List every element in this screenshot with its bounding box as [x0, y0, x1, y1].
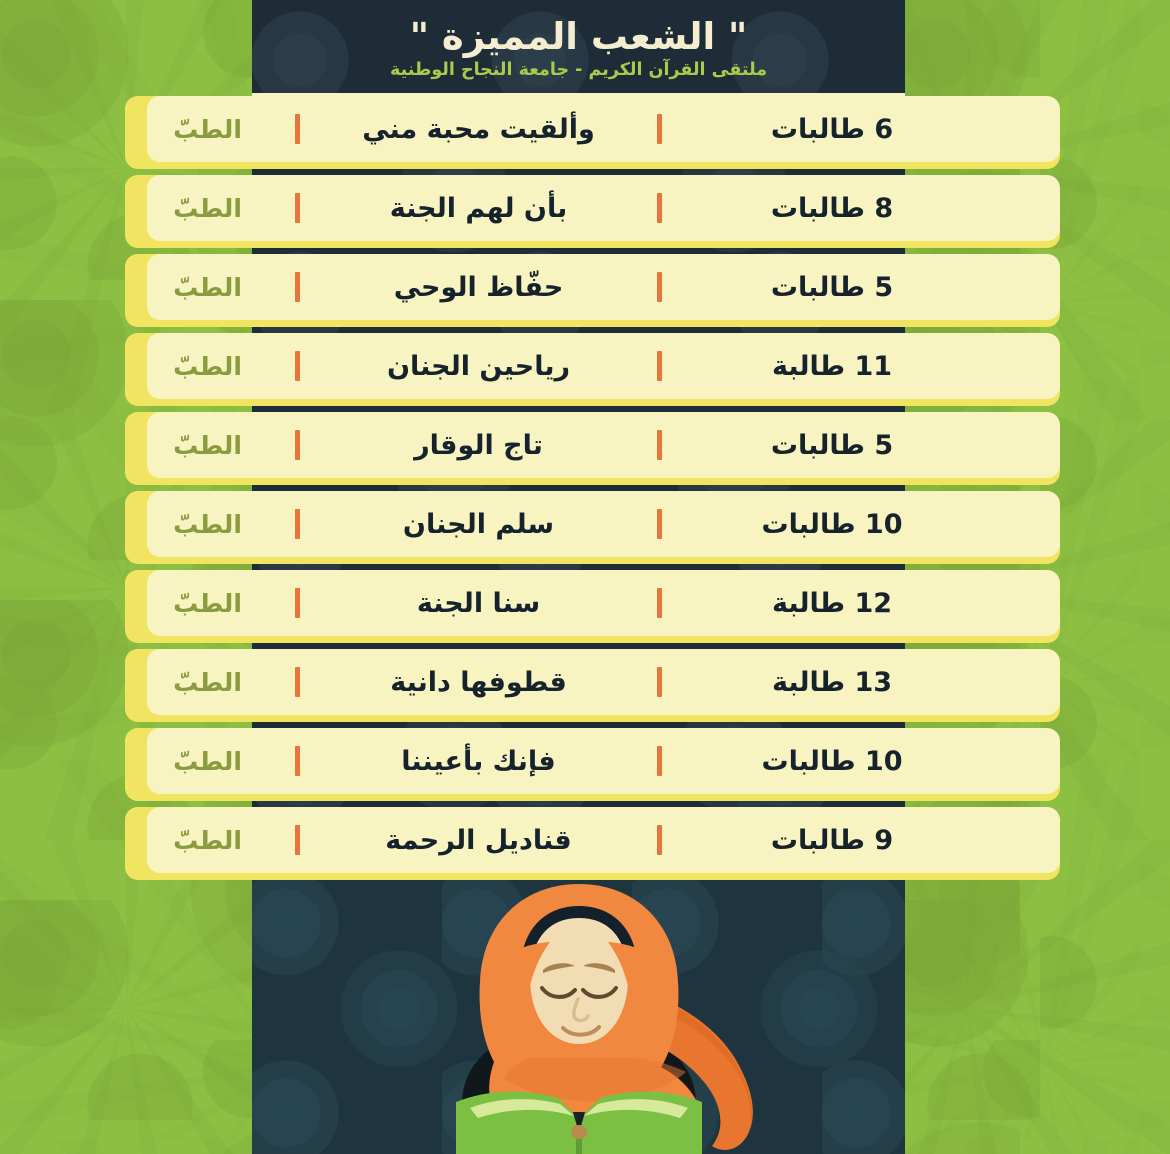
row-pill[interactable]: الطبّ حفّاظ الوحي 5 طالبات — [125, 254, 1060, 320]
table-row[interactable]: الطبّ فإنك بأعيننا 10 طالبات — [0, 728, 1170, 794]
cell-group-name: قناديل الرحمة — [300, 807, 657, 873]
cell-faculty: الطبّ — [125, 254, 290, 320]
cell-faculty: الطبّ — [125, 807, 290, 873]
table-row[interactable]: الطبّ بأن لهم الجنة 8 طالبات — [0, 175, 1170, 241]
cell-faculty: الطبّ — [125, 491, 290, 557]
cell-faculty: الطبّ — [125, 649, 290, 715]
cell-faculty: الطبّ — [125, 175, 290, 241]
row-pill[interactable]: الطبّ تاج الوقار 5 طالبات — [125, 412, 1060, 478]
row-pill[interactable]: الطبّ سلم الجنان 10 طالبات — [125, 491, 1060, 557]
table-row[interactable]: الطبّ قناديل الرحمة 9 طالبات — [0, 807, 1170, 873]
illustration-panel — [252, 866, 905, 1154]
cell-student-count: 9 طالبات — [662, 807, 1002, 873]
woman-reading-icon — [344, 866, 814, 1154]
cell-student-count: 10 طالبات — [662, 491, 1002, 557]
row-pill[interactable]: الطبّ رياحين الجنان 11 طالبة — [125, 333, 1060, 399]
cell-student-count: 5 طالبات — [662, 412, 1002, 478]
cell-faculty: الطبّ — [125, 333, 290, 399]
cell-faculty: الطبّ — [125, 412, 290, 478]
cell-group-name: حفّاظ الوحي — [300, 254, 657, 320]
table-row[interactable]: الطبّ سلم الجنان 10 طالبات — [0, 491, 1170, 557]
cell-student-count: 8 طالبات — [662, 175, 1002, 241]
page-subtitle: ملتقى القرآن الكريم - جامعة النجاح الوطن… — [390, 60, 767, 80]
cell-group-name: رياحين الجنان — [300, 333, 657, 399]
cell-group-name: سنا الجنة — [300, 570, 657, 636]
cell-group-name: بأن لهم الجنة — [300, 175, 657, 241]
cell-student-count: 11 طالبة — [662, 333, 1002, 399]
cell-group-name: تاج الوقار — [300, 412, 657, 478]
cell-student-count: 6 طالبات — [662, 96, 1002, 162]
cell-faculty: الطبّ — [125, 96, 290, 162]
poster-header: " الشعب المميزة " ملتقى القرآن الكريم - … — [252, 0, 905, 96]
rows-container: الطبّ وألقيت محبة مني 6 طالبات الطبّ بأن… — [0, 96, 1170, 886]
table-row[interactable]: الطبّ حفّاظ الوحي 5 طالبات — [0, 254, 1170, 320]
cell-group-name: فإنك بأعيننا — [300, 728, 657, 794]
cell-faculty: الطبّ — [125, 728, 290, 794]
cell-student-count: 12 طالبة — [662, 570, 1002, 636]
row-pill[interactable]: الطبّ فإنك بأعيننا 10 طالبات — [125, 728, 1060, 794]
table-row[interactable]: الطبّ تاج الوقار 5 طالبات — [0, 412, 1170, 478]
cell-group-name: وألقيت محبة مني — [300, 96, 657, 162]
table-row[interactable]: الطبّ سنا الجنة 12 طالبة — [0, 570, 1170, 636]
cell-student-count: 10 طالبات — [662, 728, 1002, 794]
table-row[interactable]: الطبّ رياحين الجنان 11 طالبة — [0, 333, 1170, 399]
row-pill[interactable]: الطبّ بأن لهم الجنة 8 طالبات — [125, 175, 1060, 241]
cell-faculty: الطبّ — [125, 570, 290, 636]
row-pill[interactable]: الطبّ قطوفها دانية 13 طالبة — [125, 649, 1060, 715]
row-pill[interactable]: الطبّ وألقيت محبة مني 6 طالبات — [125, 96, 1060, 162]
page-title: " الشعب المميزة " — [410, 16, 748, 57]
infographic-poster: " الشعب المميزة " ملتقى القرآن الكريم - … — [0, 0, 1170, 1154]
table-row[interactable]: الطبّ وألقيت محبة مني 6 طالبات — [0, 96, 1170, 162]
row-pill[interactable]: الطبّ سنا الجنة 12 طالبة — [125, 570, 1060, 636]
cell-group-name: سلم الجنان — [300, 491, 657, 557]
header-divider — [252, 93, 905, 97]
cell-group-name: قطوفها دانية — [300, 649, 657, 715]
cell-student-count: 5 طالبات — [662, 254, 1002, 320]
row-pill[interactable]: الطبّ قناديل الرحمة 9 طالبات — [125, 807, 1060, 873]
cell-student-count: 13 طالبة — [662, 649, 1002, 715]
table-row[interactable]: الطبّ قطوفها دانية 13 طالبة — [0, 649, 1170, 715]
